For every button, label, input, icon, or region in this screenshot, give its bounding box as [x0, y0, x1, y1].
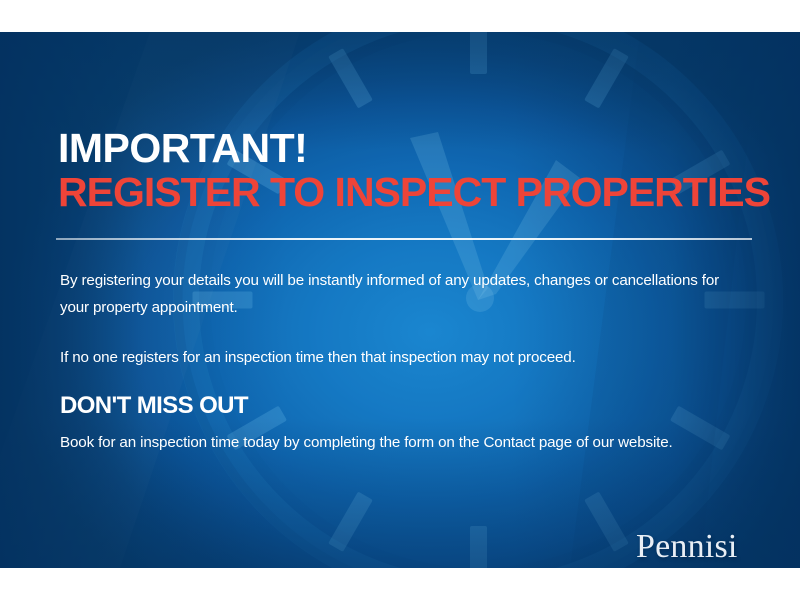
poster-page: IMPORTANT! REGISTER TO INSPECT PROPERTIE…	[0, 0, 800, 600]
body-paragraph-3: Book for an inspection time today by com…	[60, 430, 750, 457]
horizontal-divider	[56, 238, 752, 240]
headline-secondary: REGISTER TO INSPECT PROPERTIES	[58, 172, 770, 213]
body-paragraph-1: By registering your details you will be …	[60, 268, 750, 321]
blue-banner: IMPORTANT! REGISTER TO INSPECT PROPERTIE…	[0, 32, 800, 568]
headline-primary: IMPORTANT!	[58, 128, 307, 169]
subheading-dont-miss-out: DON'T MISS OUT	[60, 394, 248, 418]
pennisi-logo: Pennisi	[636, 530, 738, 564]
poster-content: IMPORTANT! REGISTER TO INSPECT PROPERTIE…	[0, 32, 800, 568]
body-paragraph-2: If no one registers for an inspection ti…	[60, 345, 750, 372]
